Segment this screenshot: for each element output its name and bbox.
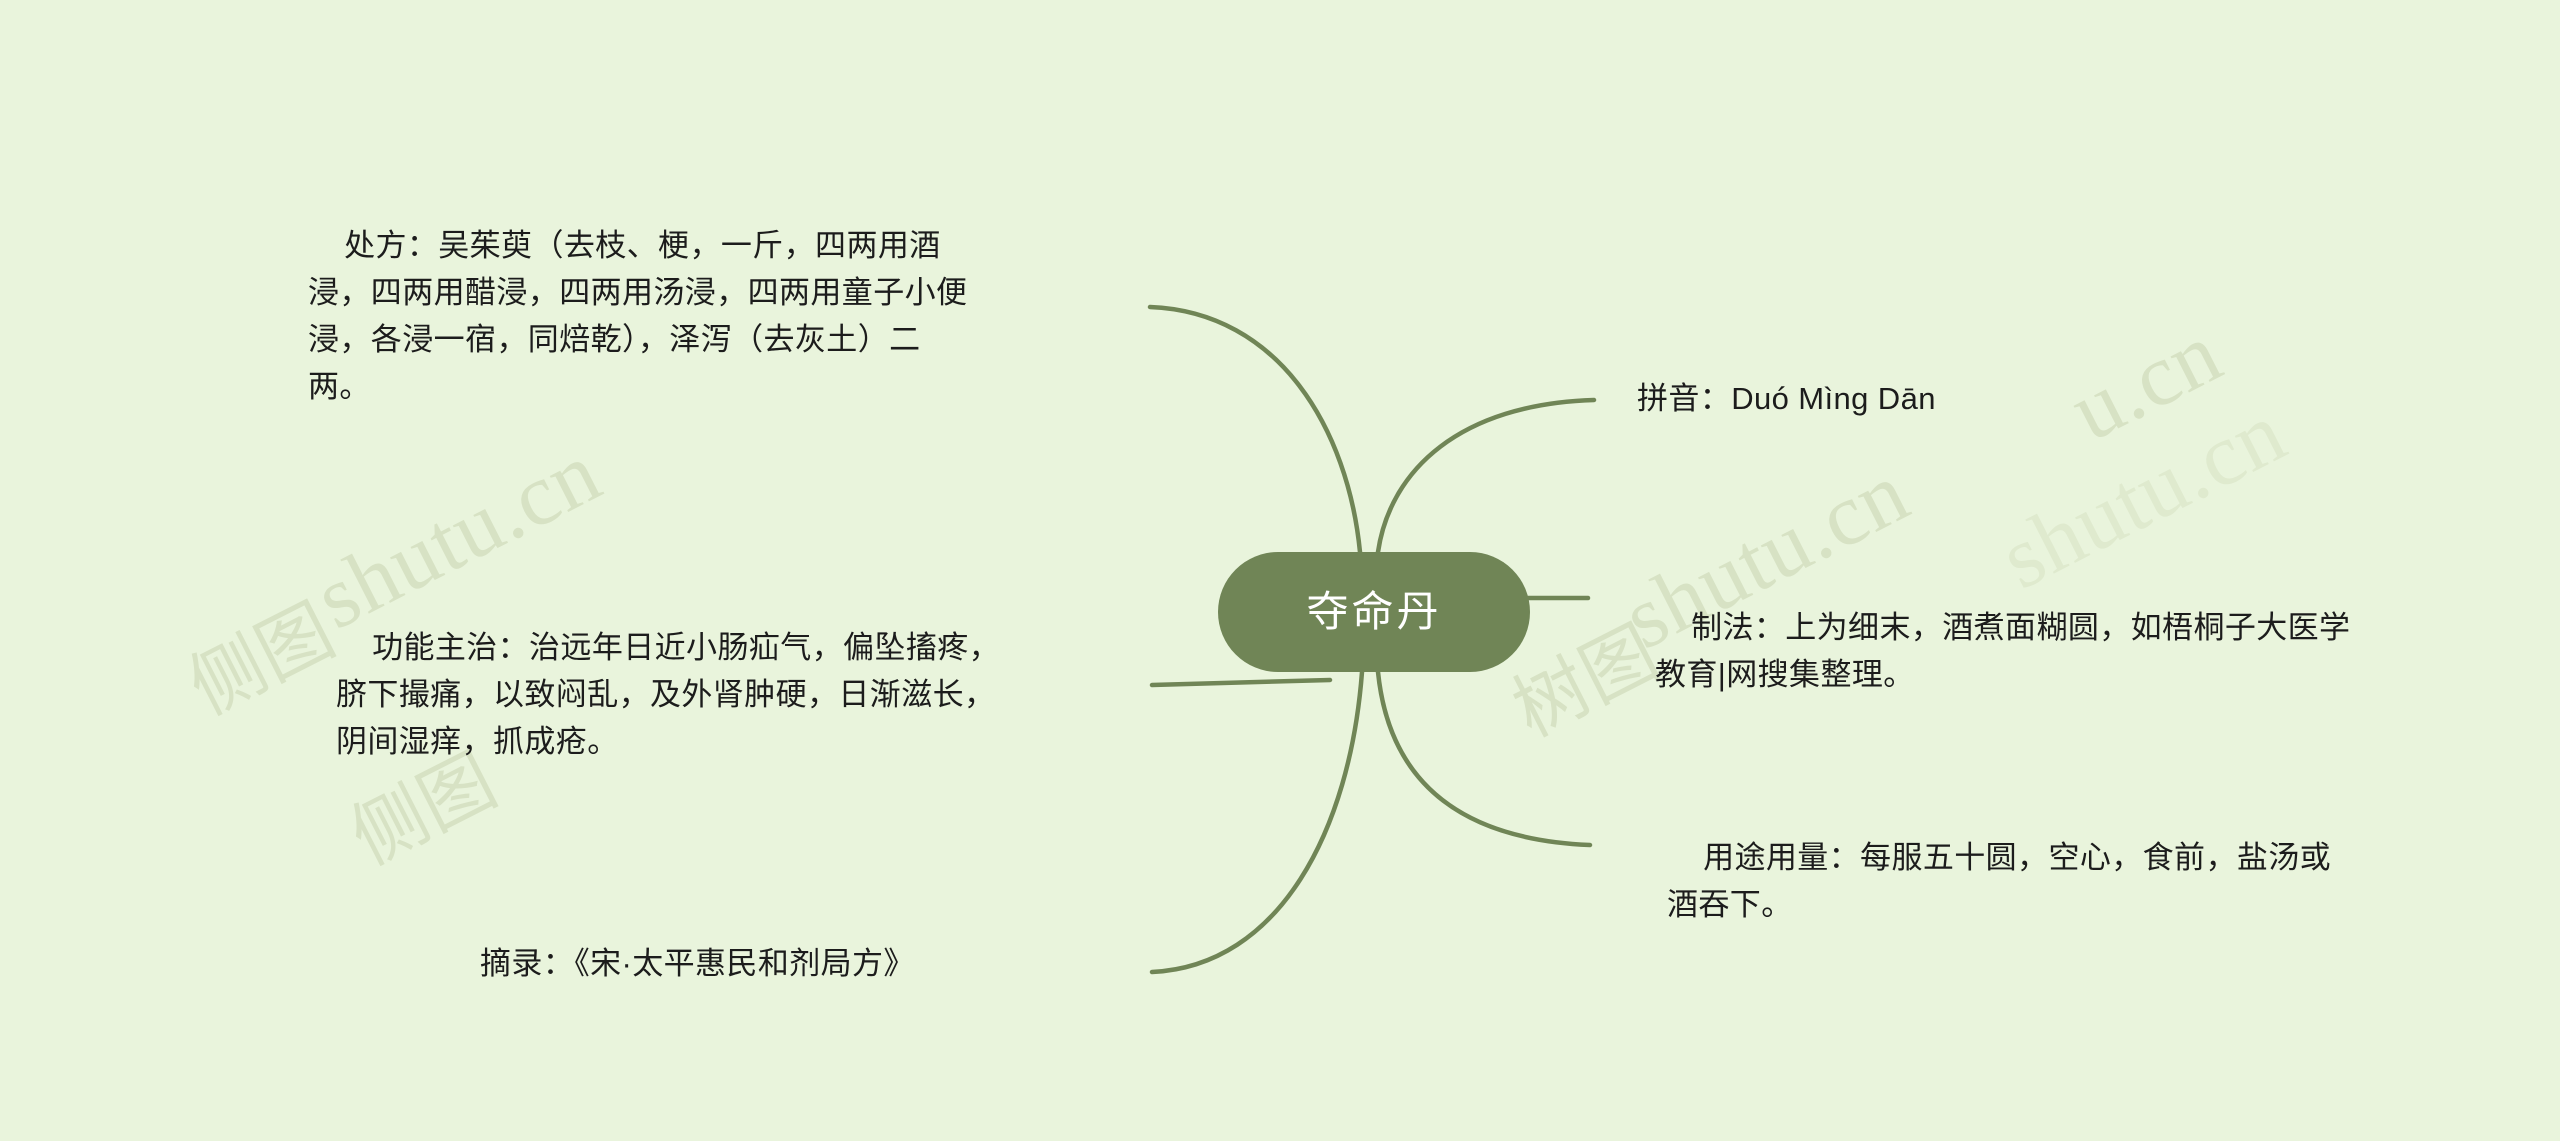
leaf-gongneng-zhuzhi[interactable]: 功能主治：治远年日近小肠疝气，偏坠搐疼，脐下撮痛，以致闷乱，及外肾肿硬，日渐滋长… bbox=[336, 577, 1020, 813]
root-node[interactable]: 夺命丹 bbox=[1218, 552, 1530, 672]
leaf-gongneng-zhuzhi-text: 功能主治：治远年日近小肠疝气，偏坠搐疼，脐下撮痛，以致闷乱，及外肾肿硬，日渐滋长… bbox=[336, 630, 1000, 759]
root-node-label: 夺命丹 bbox=[1306, 591, 1441, 633]
edge-to-yongliang bbox=[1378, 672, 1590, 845]
leaf-yongtu-yongliang-text: 用途用量：每服五十圆，空心，食前，盐汤或酒吞下。 bbox=[1667, 840, 2331, 922]
leaf-zhailu-text: 摘录：《宋·太平惠民和剂局方》 bbox=[480, 946, 915, 981]
leaf-chufang-text: 处方：吴茱萸（去枝、梗，一斤，四两用酒浸，四两用醋浸，四两用汤浸，四两用童子小便… bbox=[308, 228, 967, 404]
leaf-zhifa[interactable]: 制法：上为细末，酒煮面糊圆，如梧桐子大医学教育|网搜集整理。 bbox=[1655, 557, 2355, 745]
mindmap-canvas: shutu.cn 侧图 侧图 shutu.cn 树图 u.cn shutu.cn… bbox=[0, 0, 2560, 1141]
leaf-zhifa-text: 制法：上为细末，酒煮面糊圆，如梧桐子大医学教育|网搜集整理。 bbox=[1655, 610, 2350, 692]
watermark-text: 侧图 bbox=[168, 572, 350, 735]
edge-to-chufang bbox=[1150, 307, 1360, 552]
leaf-yongtu-yongliang[interactable]: 用途用量：每服五十圆，空心，食前，盐汤或酒吞下。 bbox=[1667, 787, 2359, 975]
edge-to-pinyin bbox=[1378, 400, 1594, 552]
leaf-zhailu[interactable]: 摘录：《宋·太平惠民和剂局方》 bbox=[480, 940, 1120, 987]
leaf-pinyin[interactable]: 拼音：Duó Mìng Dān bbox=[1637, 375, 2337, 422]
edge-to-zhailu bbox=[1152, 672, 1362, 972]
leaf-pinyin-text: 拼音：Duó Mìng Dān bbox=[1637, 381, 1936, 416]
leaf-chufang[interactable]: 处方：吴茱萸（去枝、梗，一斤，四两用酒浸，四两用醋浸，四两用汤浸，四两用童子小便… bbox=[308, 175, 972, 458]
edge-to-gongneng bbox=[1152, 680, 1330, 685]
